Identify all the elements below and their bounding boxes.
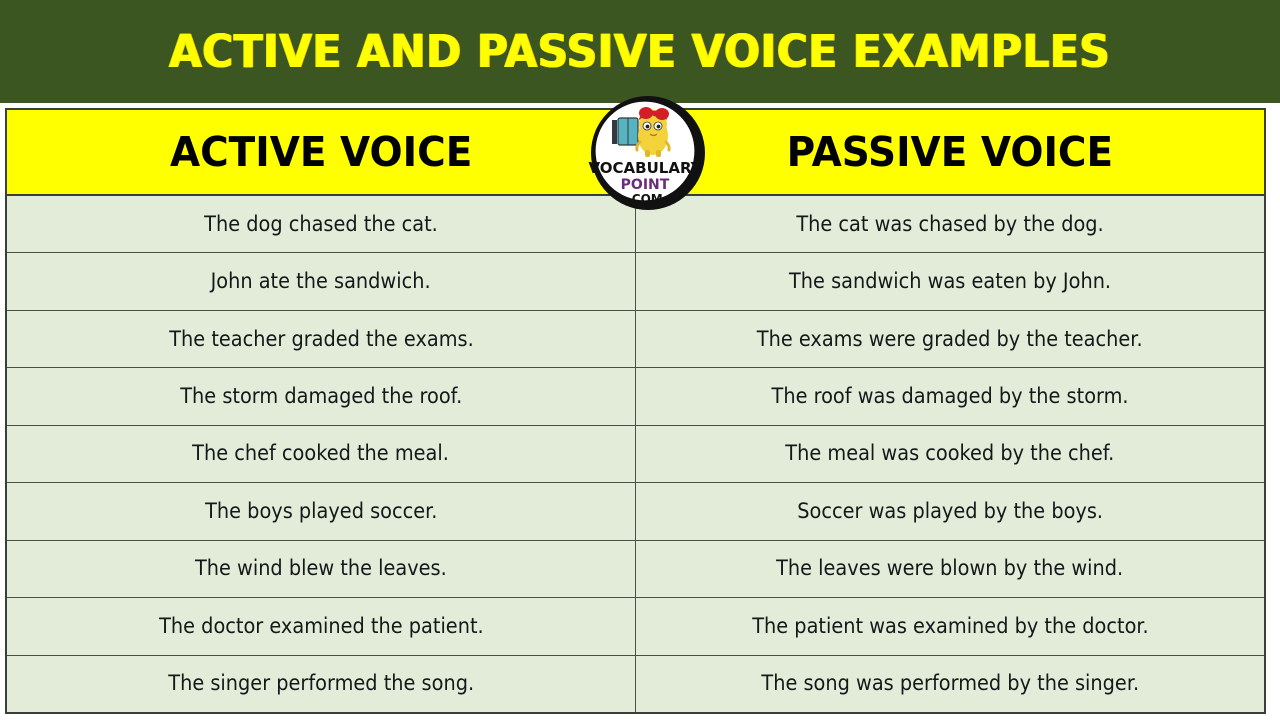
table-row: The doctor examined the patient. The pat… (7, 598, 1264, 655)
column-header-active-voice: ACTIVE VOICE (7, 110, 637, 194)
passive-voice-cell: The sandwich was eaten by John. (636, 253, 1264, 309)
table-row: The wind blew the leaves. The leaves wer… (7, 541, 1264, 598)
passive-voice-text: The cat was chased by the dog. (796, 213, 1103, 236)
table-row: The singer performed the song. The song … (7, 656, 1264, 712)
column-header-passive-voice-label: PASSIVE VOICE (787, 132, 1114, 173)
passive-voice-text: The leaves were blown by the wind. (776, 557, 1123, 580)
passive-voice-text: The exams were graded by the teacher. (757, 328, 1143, 351)
logo-line1: VOCABULARY (588, 159, 702, 177)
active-voice-cell: The wind blew the leaves. (7, 541, 636, 597)
book-icon (612, 118, 638, 145)
passive-voice-cell: The roof was damaged by the storm. (636, 368, 1264, 424)
active-voice-text: John ate the sandwich. (211, 270, 431, 293)
table-row: John ate the sandwich. The sandwich was … (7, 253, 1264, 310)
table-row: The chef cooked the meal. The meal was c… (7, 426, 1264, 483)
passive-voice-cell: The exams were graded by the teacher. (636, 311, 1264, 367)
active-voice-cell: The boys played soccer. (7, 483, 636, 539)
logo-line3: .COM (627, 192, 663, 206)
active-voice-text: The boys played soccer. (205, 500, 437, 523)
active-voice-cell: The doctor examined the patient. (7, 598, 636, 654)
page-title: ACTIVE AND PASSIVE VOICE EXAMPLES (169, 29, 1110, 74)
active-voice-cell: John ate the sandwich. (7, 253, 636, 309)
passive-voice-text: The patient was examined by the doctor. (752, 615, 1148, 638)
passive-voice-text: The sandwich was eaten by John. (789, 270, 1111, 293)
active-voice-text: The storm damaged the roof. (180, 385, 462, 408)
active-voice-cell: The storm damaged the roof. (7, 368, 636, 424)
active-voice-text: The teacher graded the exams. (169, 328, 474, 351)
vocabulary-point-logo: VOCABULARY POINT .COM (588, 94, 708, 212)
column-header-active-voice-label: ACTIVE VOICE (170, 132, 472, 173)
active-voice-cell: The chef cooked the meal. (7, 426, 636, 482)
passive-voice-text: The roof was damaged by the storm. (771, 385, 1128, 408)
passive-voice-text: Soccer was played by the boys. (797, 500, 1103, 523)
column-header-passive-voice: PASSIVE VOICE (637, 110, 1265, 194)
active-voice-text: The dog chased the cat. (204, 213, 438, 236)
passive-voice-cell: The meal was cooked by the chef. (636, 426, 1264, 482)
logo-line2: POINT (621, 177, 670, 193)
active-voice-text: The wind blew the leaves. (195, 557, 447, 580)
title-banner: ACTIVE AND PASSIVE VOICE EXAMPLES (0, 0, 1280, 103)
active-voice-cell: The dog chased the cat. (7, 196, 636, 252)
passive-voice-cell: Soccer was played by the boys. (636, 483, 1264, 539)
passive-voice-text: The song was performed by the singer. (761, 672, 1139, 695)
table-body: The dog chased the cat. The cat was chas… (7, 196, 1264, 712)
table-row: The storm damaged the roof. The roof was… (7, 368, 1264, 425)
active-voice-text: The doctor examined the patient. (159, 615, 484, 638)
active-voice-cell: The teacher graded the exams. (7, 311, 636, 367)
active-voice-text: The chef cooked the meal. (193, 442, 450, 465)
active-voice-text: The singer performed the song. (168, 672, 474, 695)
passive-voice-cell: The patient was examined by the doctor. (636, 598, 1264, 654)
table-row: The teacher graded the exams. The exams … (7, 311, 1264, 368)
passive-voice-cell: The song was performed by the singer. (636, 656, 1264, 712)
passive-voice-cell: The cat was chased by the dog. (636, 196, 1264, 252)
passive-voice-cell: The leaves were blown by the wind. (636, 541, 1264, 597)
passive-voice-text: The meal was cooked by the chef. (785, 442, 1114, 465)
table-row: The boys played soccer. Soccer was playe… (7, 483, 1264, 540)
active-voice-cell: The singer performed the song. (7, 656, 636, 712)
